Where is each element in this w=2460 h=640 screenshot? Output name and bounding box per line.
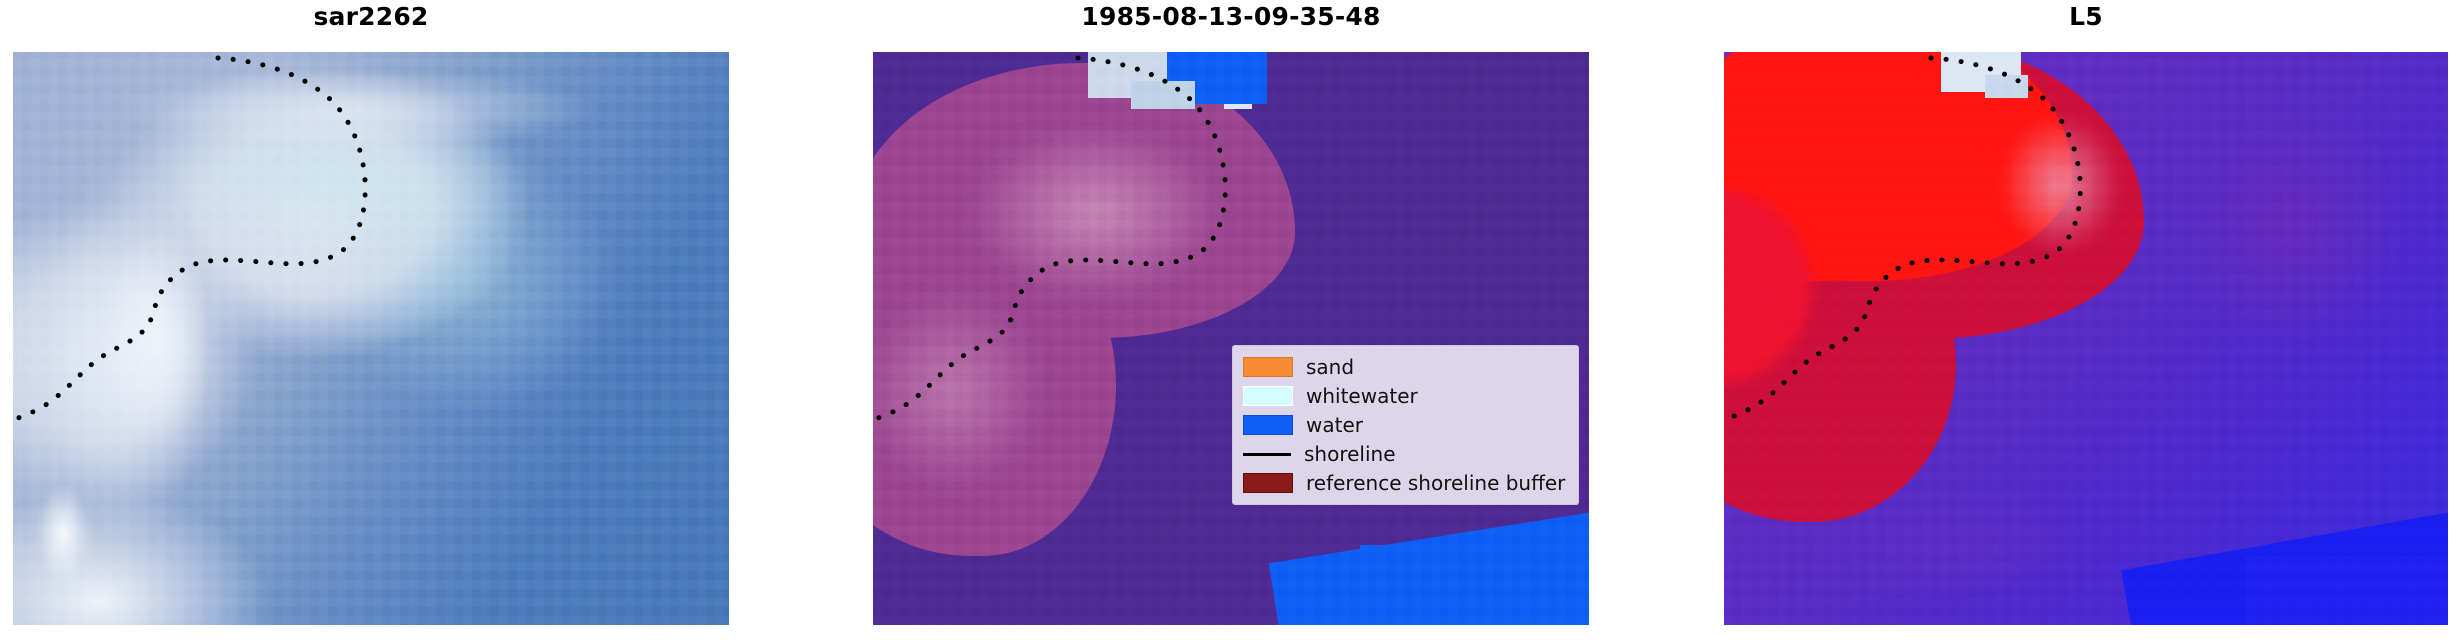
legend-item-shoreline: shoreline [1243, 442, 1566, 466]
legend-item-water: water [1243, 413, 1566, 437]
panel-sar2262: sar2262 [13, 0, 729, 640]
legend-label-sand: sand [1306, 357, 1354, 377]
legend-item-whitewater: whitewater [1243, 384, 1566, 408]
figure-canvas: sar2262 1985-08-13-09-35-48 [0, 0, 2460, 640]
shoreline-dotted-3 [1724, 58, 2080, 420]
legend-item-sand: sand [1243, 355, 1566, 379]
panel-1-image [13, 52, 729, 625]
panel-3-title: L5 [1724, 0, 2448, 34]
water-swatch-icon [1243, 415, 1293, 435]
legend-label-shoreline: shoreline [1304, 444, 1396, 464]
panel-1-title: sar2262 [13, 0, 729, 34]
whitewater-swatch-icon [1243, 386, 1293, 406]
shoreline-overlay-1 [13, 52, 729, 625]
legend-item-reference-buffer: reference shoreline buffer [1243, 471, 1566, 495]
shoreline-dotted-1 [13, 58, 365, 420]
reference-buffer-swatch-icon [1243, 473, 1293, 493]
panel-3-image [1724, 52, 2448, 625]
sand-swatch-icon [1243, 357, 1293, 377]
legend-label-whitewater: whitewater [1306, 386, 1418, 406]
shoreline-dotted-2 [873, 58, 1225, 420]
panel-classification: 1985-08-13-09-35-48 sand [873, 0, 1589, 640]
shoreline-line-icon [1243, 453, 1291, 456]
legend-label-water: water [1306, 415, 1363, 435]
shoreline-overlay-3 [1724, 52, 2448, 625]
legend-box: sand whitewater water shoreline referenc… [1232, 345, 1579, 505]
legend-label-reference-buffer: reference shoreline buffer [1306, 473, 1565, 493]
shoreline-overlay-2 [873, 52, 1589, 625]
panel-2-title: 1985-08-13-09-35-48 [873, 0, 1589, 34]
panel-l5: L5 [1724, 0, 2448, 640]
panel-2-image [873, 52, 1589, 625]
